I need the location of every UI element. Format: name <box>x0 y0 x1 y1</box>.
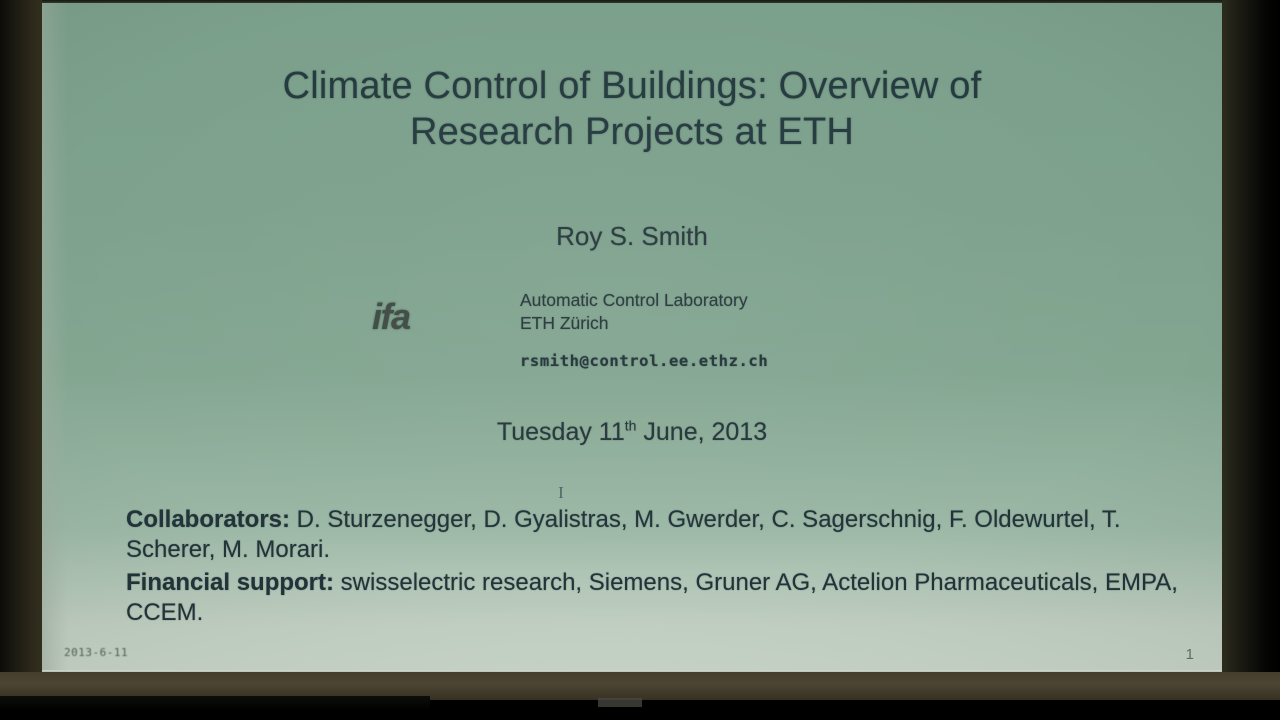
desk-plate <box>598 698 642 707</box>
projected-slide: Climate Control of Buildings: Overview o… <box>42 3 1222 675</box>
slide-title-line-2: Research Projects at ETH <box>42 109 1222 155</box>
slide-date-ordinal: th <box>625 418 637 434</box>
footer-date-stamp: 2013-6-11 <box>64 646 128 659</box>
contact-email: rsmith@control.ee.ethz.ch <box>520 352 768 370</box>
credits-block: Collaborators: D. Sturzenegger, D. Gyali… <box>126 505 1186 631</box>
affiliation-text: Automatic Control Laboratory ETH Zürich … <box>520 285 768 370</box>
financial-support-label: Financial support: <box>126 569 334 596</box>
room-wall-right <box>1222 0 1280 690</box>
slide-author: Roy S. Smith <box>42 221 1222 252</box>
slide-date: Tuesday 11th June, 2013 <box>42 418 1222 447</box>
collaborators-label: Collaborators: <box>126 506 290 533</box>
projector-room-photo: Climate Control of Buildings: Overview o… <box>0 0 1280 720</box>
floor-dark-area-left <box>0 696 430 720</box>
room-wall-left <box>0 0 42 690</box>
collaborators-line: Collaborators: D. Sturzenegger, D. Gyali… <box>126 505 1186 565</box>
affiliation-line-2: ETH Zürich <box>520 312 768 335</box>
affiliation-block: ifa Automatic Control Laboratory ETH Zür… <box>372 285 1072 370</box>
slide-title: Climate Control of Buildings: Overview o… <box>42 63 1222 155</box>
text-cursor: I <box>554 483 568 501</box>
slide-date-prefix: Tuesday 11 <box>497 418 625 446</box>
footer-page-number: 1 <box>1186 646 1194 663</box>
slide-title-line-1: Climate Control of Buildings: Overview o… <box>42 63 1222 109</box>
slide-date-suffix: June, 2013 <box>636 418 767 446</box>
affiliation-line-1: Automatic Control Laboratory <box>520 289 768 312</box>
ifa-logo: ifa <box>372 285 464 335</box>
financial-support-line: Financial support: swisselectric researc… <box>126 568 1186 628</box>
